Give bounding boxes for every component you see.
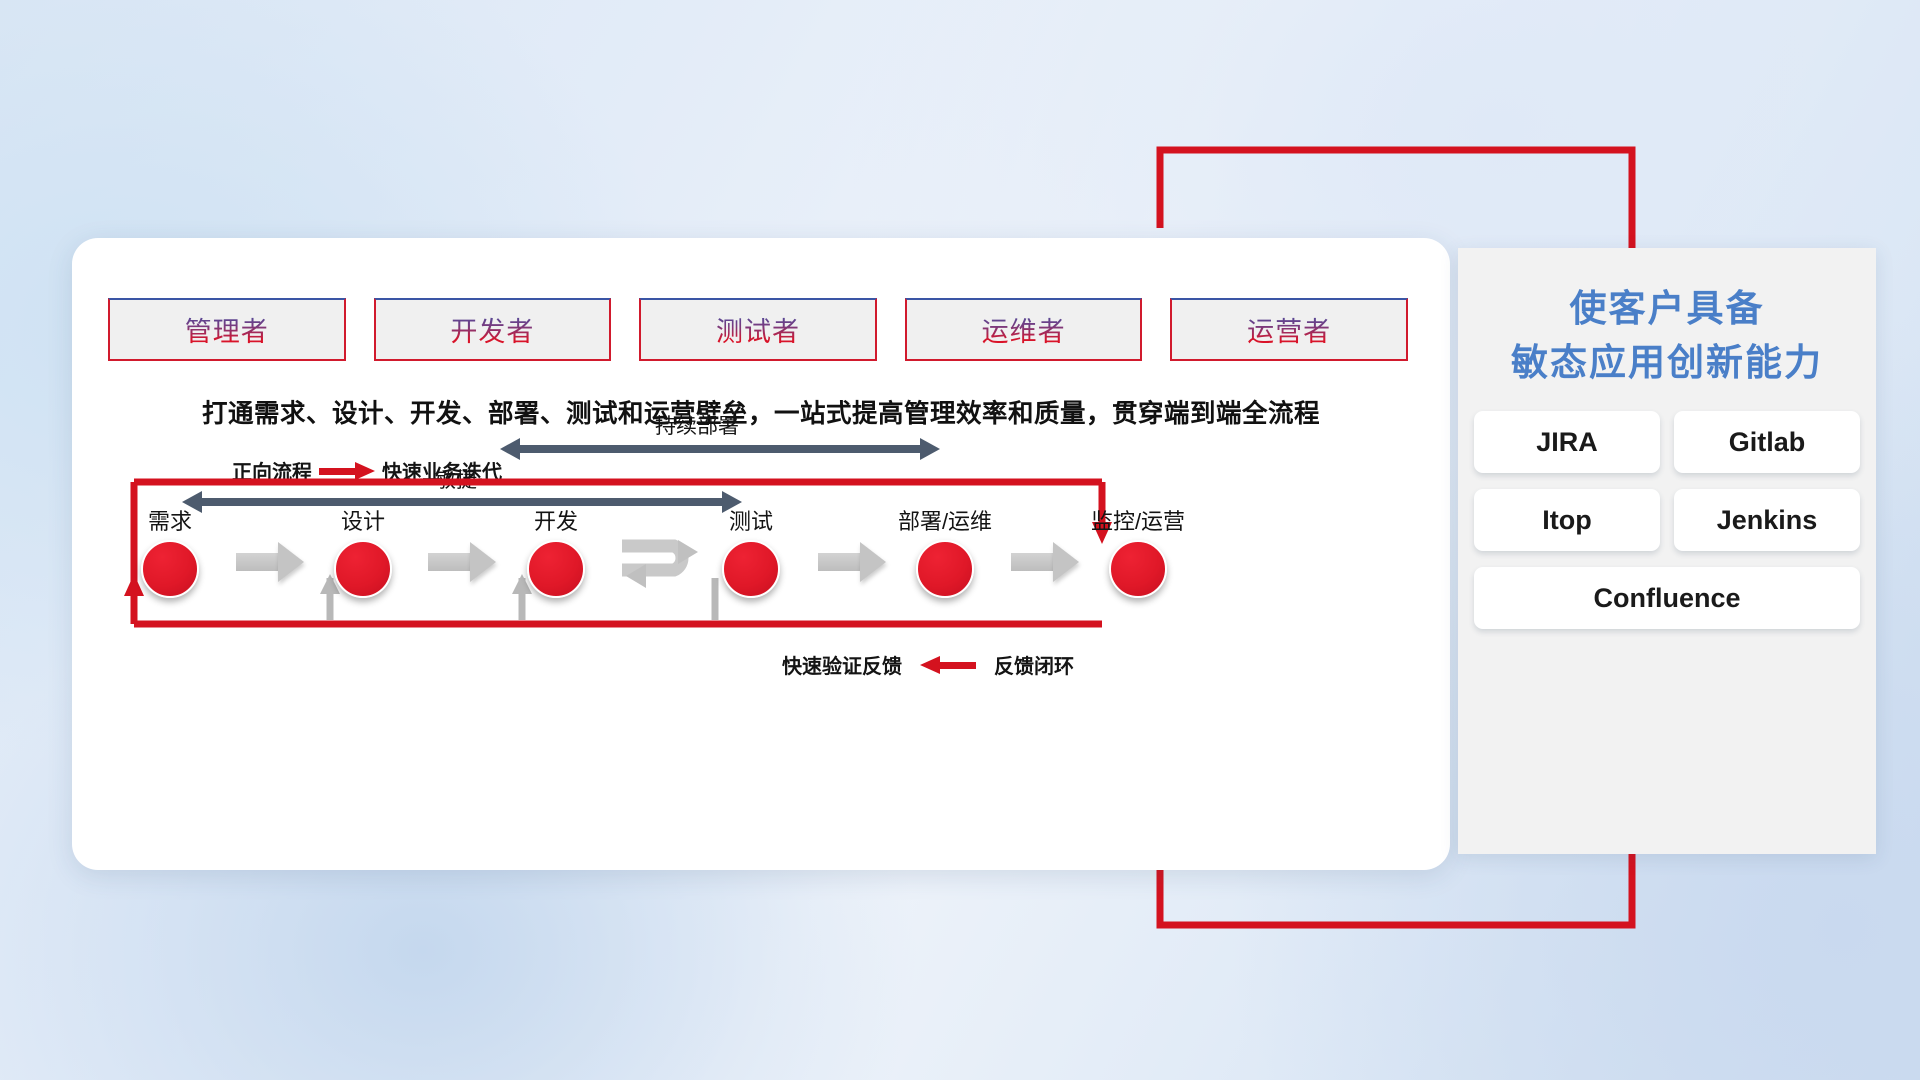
stage-label: 需求	[105, 504, 235, 536]
stage-requirements[interactable]: 需求	[105, 504, 235, 598]
legend-feedback-target-label: 快速验证反馈	[782, 650, 902, 679]
band-label-continuous-deployment: 持续部署	[655, 410, 739, 440]
role-box-operations[interactable]: 运营者	[1170, 298, 1408, 361]
connector-arrow-3-icon	[818, 542, 886, 582]
stage-dot-icon	[141, 540, 199, 598]
stage-label: 测试	[686, 504, 816, 536]
stage-label: 设计	[298, 504, 428, 536]
arrow-right-red-icon	[319, 461, 375, 481]
main-diagram-card: 管理者 开发者 测试者 运维者 运营者 打通需求、设计、开发、部署、测试和运营壁…	[72, 238, 1450, 870]
tool-chip-jira[interactable]: JIRA	[1474, 411, 1660, 473]
stage-dot-icon	[527, 540, 585, 598]
stage-development[interactable]: 开发	[491, 504, 621, 598]
arrow-left-red-icon	[920, 655, 976, 675]
legend-forward-source-label: 正向流程	[232, 456, 312, 485]
tools-panel-title: 使客户具备 敏态应用创新能力	[1458, 248, 1876, 389]
stage-label: 开发	[491, 504, 621, 536]
tool-chip-gitlab[interactable]: Gitlab	[1674, 411, 1860, 473]
role-label: 运营者	[1247, 310, 1331, 349]
role-box-ops[interactable]: 运维者	[905, 298, 1143, 361]
role-box-developer[interactable]: 开发者	[374, 298, 612, 361]
legend-feedback-source-label: 反馈闭环	[994, 650, 1074, 679]
description-text: 打通需求、设计、开发、部署、测试和运营壁垒，一站式提高管理效率和质量，贯穿端到端…	[72, 393, 1450, 430]
tool-chip-jenkins[interactable]: Jenkins	[1674, 489, 1860, 551]
role-label: 运维者	[982, 310, 1066, 349]
tool-chip-itop[interactable]: Itop	[1474, 489, 1660, 551]
double-arrow-continuous-deployment-icon	[500, 438, 940, 460]
role-label: 测试者	[716, 310, 800, 349]
connector-arrow-4-icon	[1011, 542, 1079, 582]
connector-arrow-2-icon	[428, 542, 496, 582]
role-box-manager[interactable]: 管理者	[108, 298, 346, 361]
pipeline-stages: 需求 设计 开发	[108, 504, 1408, 624]
legend-feedback-loop: 快速验证反馈 反馈闭环	[782, 650, 1074, 679]
roles-row: 管理者 开发者 测试者 运维者 运营者	[108, 298, 1408, 361]
slide-canvas: 管理者 开发者 测试者 运维者 运营者 打通需求、设计、开发、部署、测试和运营壁…	[0, 0, 1920, 1080]
tools-title-line-1: 使客户具备	[1458, 282, 1876, 336]
stage-design[interactable]: 设计	[298, 504, 428, 598]
stage-testing[interactable]: 测试	[686, 504, 816, 598]
stage-dot-icon	[916, 540, 974, 598]
band-label-agile: 敏捷	[435, 464, 477, 494]
stage-monitor-operations[interactable]: 监控/运营	[1073, 504, 1203, 598]
stage-deploy-ops[interactable]: 部署/运维	[880, 504, 1010, 598]
tool-chip-confluence[interactable]: Confluence	[1474, 567, 1860, 629]
stage-dot-icon	[334, 540, 392, 598]
role-label: 开发者	[450, 310, 534, 349]
role-label: 管理者	[185, 310, 269, 349]
connector-arrow-1-icon	[236, 542, 304, 582]
stage-dot-icon	[1109, 540, 1167, 598]
tools-grid: JIRA Gitlab Itop Jenkins Confluence	[1458, 411, 1876, 629]
tools-title-line-2: 敏态应用创新能力	[1458, 336, 1876, 390]
stage-dot-icon	[722, 540, 780, 598]
stage-label: 监控/运营	[1073, 504, 1203, 536]
stage-label: 部署/运维	[880, 504, 1010, 536]
tools-panel: 使客户具备 敏态应用创新能力 JIRA Gitlab Itop Jenkins …	[1458, 248, 1876, 854]
role-box-tester[interactable]: 测试者	[639, 298, 877, 361]
